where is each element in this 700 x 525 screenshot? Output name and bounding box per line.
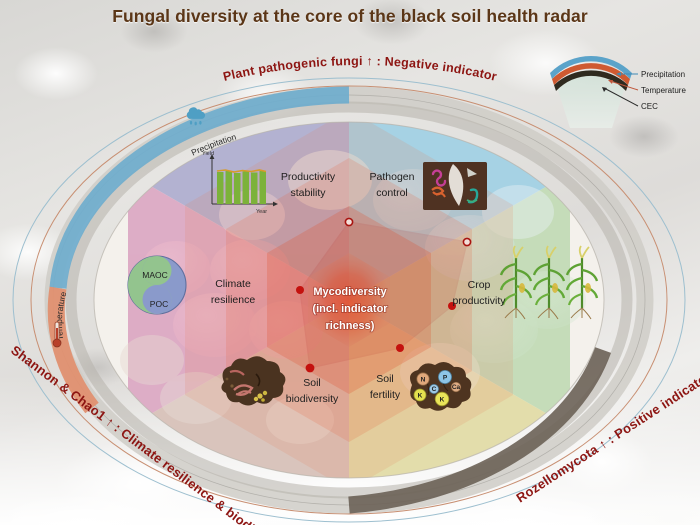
center-line-2: (incl. indicator xyxy=(312,303,388,315)
sector-label-climate-resilience-line1: Climate xyxy=(215,278,251,290)
sector-label-soil-fertility-line1: Soil xyxy=(376,373,394,385)
svg-text:K: K xyxy=(418,392,423,399)
legend-label-precipitation: Precipitation xyxy=(641,70,685,79)
sector-label-climate-resilience-line2: resilience xyxy=(211,294,256,306)
poc-label: POC xyxy=(150,299,168,309)
sector-label-crop-productivity-line1: Crop xyxy=(468,279,491,291)
maoc-label: MAOC xyxy=(142,270,168,280)
infographic-canvas: Fungal diversity at the core of the blac… xyxy=(0,0,700,525)
legend-label-temperature: Temperature xyxy=(641,86,686,95)
svg-text:Ca: Ca xyxy=(452,384,461,391)
radar-figure: Precipitation Temperature CEC xyxy=(0,0,700,525)
svg-text:K: K xyxy=(440,397,445,404)
sector-label-soil-fertility-line2: fertility xyxy=(370,389,401,401)
center-line-3: richness) xyxy=(326,320,375,332)
sector-label-crop-productivity-line2: productivity xyxy=(452,295,506,307)
svg-text:N: N xyxy=(421,376,426,383)
maoc-poc-icon: MAOC POC xyxy=(128,256,186,314)
legend: Precipitation Temperature CEC xyxy=(550,56,686,128)
sector-label-productivity-stability-line2: stability xyxy=(290,187,326,199)
annotation-top-arc: Plant pathogenic fungi ↑ : Negative indi… xyxy=(222,54,499,84)
sector-label-productivity-stability-line1: Productivity xyxy=(281,171,336,183)
maize-plants-icon xyxy=(501,246,597,319)
microbe-shield-icon xyxy=(423,162,487,210)
yield-axis-label: Yield xyxy=(202,151,214,157)
sector-label-soil-biodiversity-line1: Soil xyxy=(303,377,321,389)
svg-text:C: C xyxy=(432,386,437,393)
center-line-1: Mycodiversity xyxy=(313,286,387,298)
svg-text:P: P xyxy=(443,375,448,382)
sector-label-pathogen-control-line1: Pathogen xyxy=(370,171,415,183)
year-axis-label: Year xyxy=(256,209,267,215)
sector-label-pathogen-control-line2: control xyxy=(376,187,408,199)
sector-label-soil-biodiversity-line2: biodiversity xyxy=(286,393,339,405)
legend-label-cec: CEC xyxy=(641,102,658,111)
